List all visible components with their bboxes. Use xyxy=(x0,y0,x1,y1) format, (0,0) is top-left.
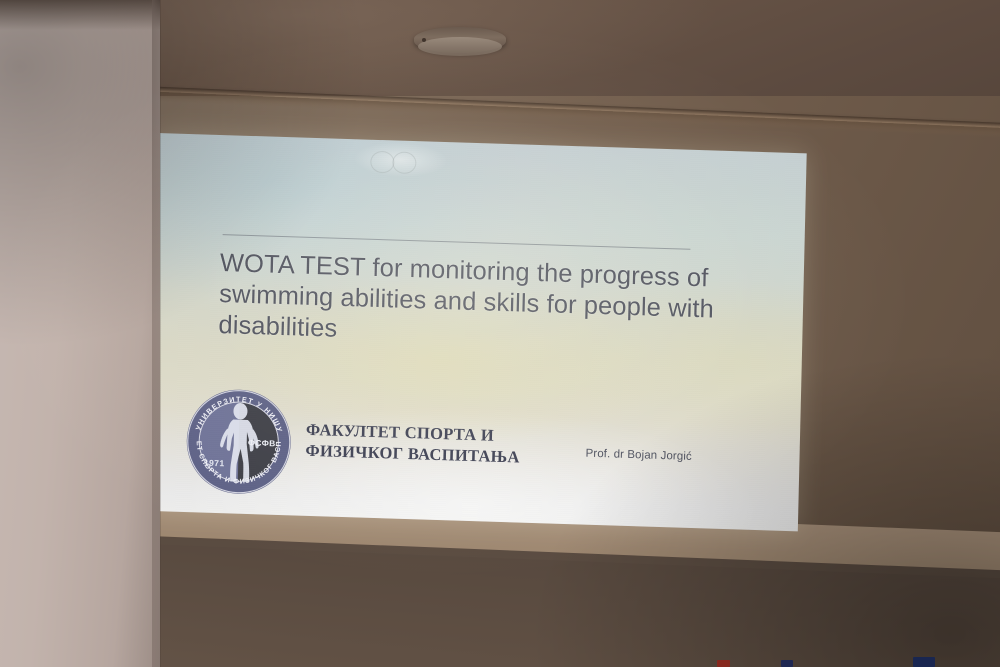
lamp-rim xyxy=(418,37,502,56)
university-logo: ФСФВ 1971 УНИВЕРЗИТЕТ У НИШУ ФАКУЛТЕТ СП… xyxy=(185,387,293,496)
presenter-name: Prof. dr Bojan Jorgić xyxy=(585,448,692,463)
title-divider-rule xyxy=(223,234,691,250)
left-pillar-edge xyxy=(152,0,161,667)
left-pillar xyxy=(0,0,160,667)
left-pillar-top-shadow xyxy=(0,0,160,30)
slide-footer: ФСФВ 1971 УНИВЕРЗИТЕТ У НИШУ ФАКУЛТЕТ СП… xyxy=(184,387,786,518)
slide-title: WOTA TEST for monitoring the progress of… xyxy=(218,248,720,356)
logo-abbreviation: ФСФВ xyxy=(248,438,276,449)
university-seal-icon: ФСФВ 1971 УНИВЕРЗИТЕТ У НИШУ ФАКУЛТЕТ СП… xyxy=(185,387,293,496)
foreground-object-red xyxy=(717,660,730,667)
foreground-object-blue-2 xyxy=(913,657,935,667)
lamp-reflection xyxy=(354,141,447,178)
slide-surface: WOTA TEST for monitoring the progress of… xyxy=(148,133,807,531)
projection-screen: WOTA TEST for monitoring the progress of… xyxy=(148,133,807,531)
screenshot-frame: WOTA TEST for monitoring the progress of… xyxy=(0,0,1000,667)
foreground-object-blue-1 xyxy=(781,660,793,667)
faculty-name: ФАКУЛТЕТ СПОРТА И ФИЗИЧКОГ ВАСПИТАЊА xyxy=(305,419,520,468)
ceiling-lamp-icon xyxy=(414,27,506,57)
lamp-screw xyxy=(422,38,426,42)
